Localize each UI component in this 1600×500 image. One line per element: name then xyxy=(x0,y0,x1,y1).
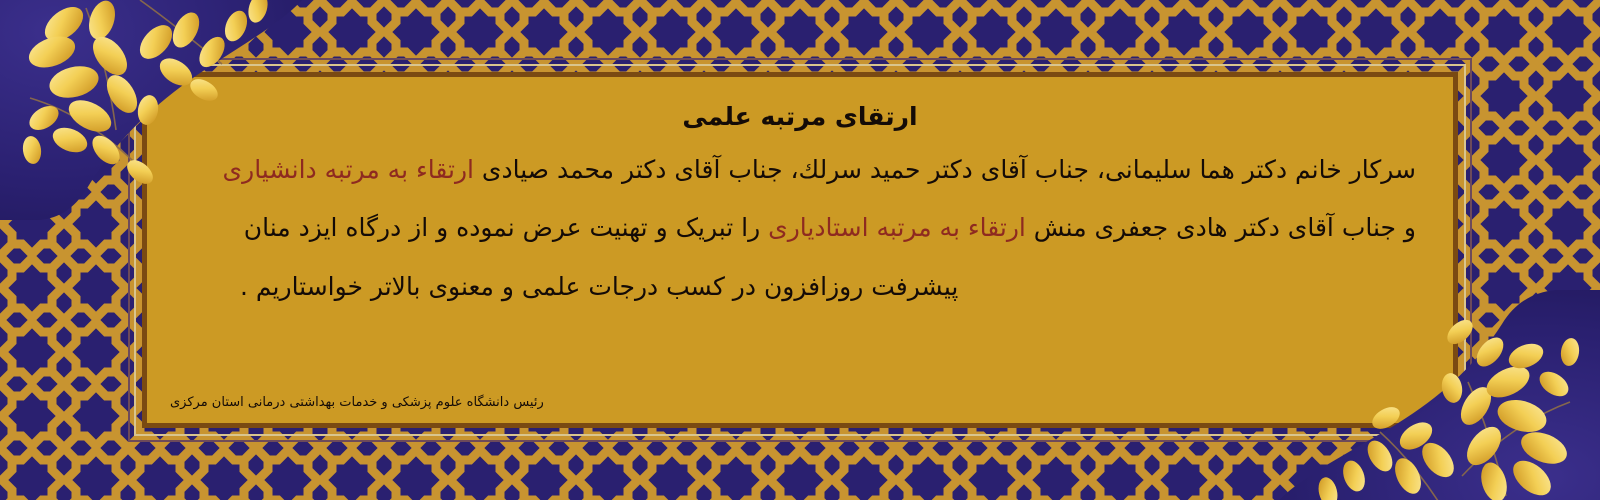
gold-panel-wrapper: ارتقای مرتبه علمی سرکار خانم دکتر هما سل… xyxy=(142,72,1458,428)
promotion-rank-accent: ارتقاء به مرتبه استادیاری xyxy=(768,213,1026,242)
body-line-3: پیشرفت روزافزون در کسب درجات علمی و معنو… xyxy=(176,274,1424,300)
body-text-run: و جناب آقای دکتر هادی جعفری منش xyxy=(1026,213,1416,242)
promotion-rank-accent: ارتقاء به مرتبه دانشیاری xyxy=(223,155,474,184)
body-text-run: را تبریک و تهنیت عرض نموده و از درگاه ای… xyxy=(244,213,768,242)
body-text-run: سرکار خانم دکتر هما سلیمانی، جناب آقای د… xyxy=(474,155,1416,184)
congratulation-banner: ارتقای مرتبه علمی سرکار خانم دکتر هما سل… xyxy=(0,0,1600,500)
body-line-1: سرکار خانم دکتر هما سلیمانی، جناب آقای د… xyxy=(176,157,1424,183)
page-title: ارتقای مرتبه علمی xyxy=(176,102,1424,131)
signature-line: رئیس دانشگاه علوم پزشکی و خدمات بهداشتی … xyxy=(170,395,544,410)
body-text-block: سرکار خانم دکتر هما سلیمانی، جناب آقای د… xyxy=(176,157,1424,300)
body-text-run: پیشرفت روزافزون در کسب درجات علمی و معنو… xyxy=(240,272,958,301)
body-line-2: و جناب آقای دکتر هادی جعفری منش ارتقاء ب… xyxy=(176,215,1424,241)
